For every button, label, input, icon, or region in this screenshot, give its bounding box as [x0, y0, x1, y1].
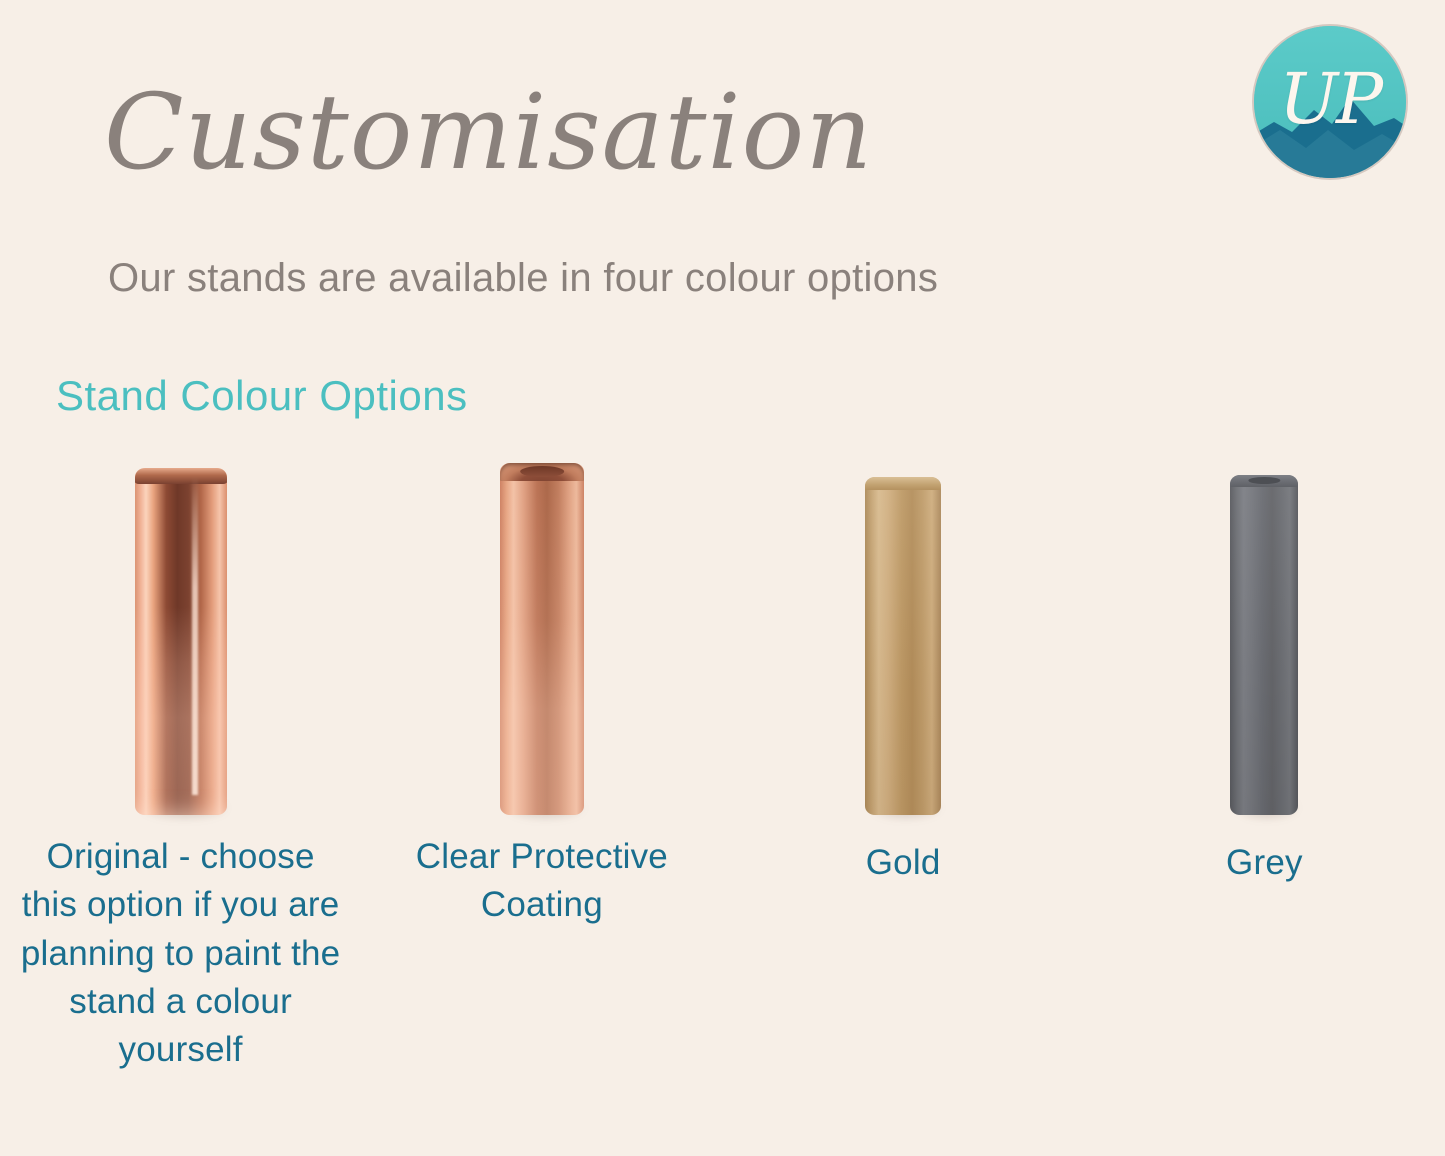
swatch-highlight: [192, 476, 198, 795]
swatch-area-original: [0, 440, 361, 815]
logo-text: UP: [1254, 26, 1406, 178]
colour-options-row: Original - choose this option if you are…: [0, 440, 1445, 1080]
colour-option-label-gold: Gold: [866, 839, 941, 887]
stand-swatch-grey[interactable]: [1230, 475, 1298, 815]
colour-option-label-original: Original - choose this option if you are…: [16, 833, 346, 1074]
up-logo: UP: [1254, 26, 1406, 178]
colour-option-label-clear-protective-coating: Clear Protective Coating: [377, 833, 707, 930]
page-subtitle: Our stands are available in four colour …: [108, 256, 938, 301]
swatch-bore-opening: [1249, 477, 1280, 484]
colour-option-gold[interactable]: Gold: [723, 440, 1084, 1080]
stand-swatch-gold[interactable]: [865, 477, 941, 815]
stand-swatch-original[interactable]: [135, 468, 227, 815]
swatch-area-gold: [723, 440, 1084, 815]
swatch-top-rim: [135, 468, 227, 484]
page-title: Customisation: [104, 78, 873, 187]
section-heading: Stand Colour Options: [56, 372, 468, 420]
stand-swatch-clear-protective-coating[interactable]: [500, 463, 584, 815]
colour-option-original[interactable]: Original - choose this option if you are…: [0, 440, 361, 1080]
colour-option-grey[interactable]: Grey: [1084, 440, 1445, 1080]
swatch-bore-opening: [520, 466, 564, 477]
colour-option-label-grey: Grey: [1226, 839, 1303, 887]
swatch-area-grey: [1084, 440, 1445, 815]
swatch-top-rim: [865, 477, 941, 490]
swatch-area-clear-protective-coating: [361, 440, 722, 815]
colour-option-clear-protective-coating[interactable]: Clear Protective Coating: [361, 440, 722, 1080]
